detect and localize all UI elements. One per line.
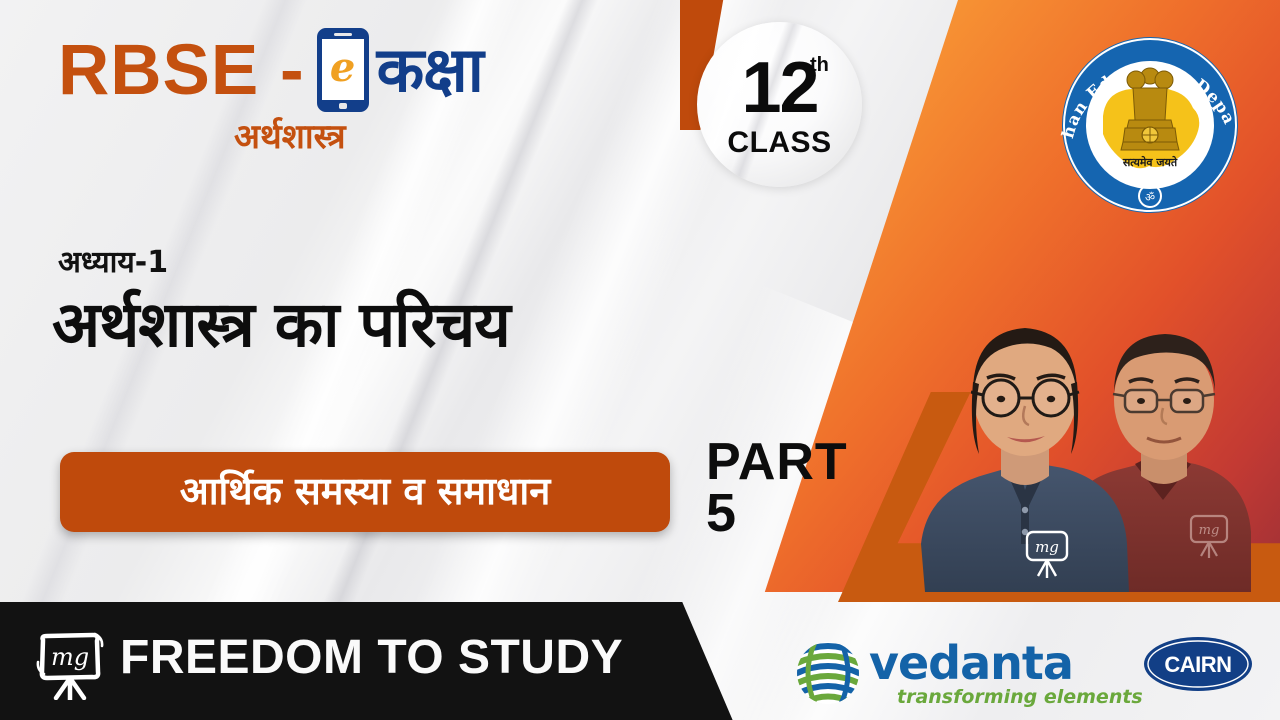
mg-easel-icon: mg <box>33 624 107 700</box>
seal-motto: सत्यमेव जयते <box>1122 155 1178 169</box>
chapter-title: अर्थशास्त्र का परिचय <box>52 290 510 361</box>
class-badge: 12 th CLASS <box>697 22 862 187</box>
footer-tagline: FREEDOM TO STUDY <box>120 634 623 682</box>
board-name: RBSE - <box>58 35 305 106</box>
class-label: CLASS <box>697 126 862 160</box>
cairn-logo: CAIRN <box>1143 636 1253 692</box>
chapter-number: अध्याय-1 <box>58 240 168 281</box>
topic-pill: आर्थिक समस्या व समाधान <box>60 452 670 532</box>
footer-bar: mg FREEDOM TO STUDY <box>0 602 740 720</box>
thumbnail-canvas: mg <box>0 0 1280 720</box>
kaksha-label: कक्षा <box>377 39 483 101</box>
seal-bottom-glyph: ॐ <box>1145 191 1155 204</box>
presenters-photo: mg <box>895 232 1255 592</box>
mg-logo-text: mg <box>51 643 89 671</box>
smartphone-screen: e <box>322 39 364 100</box>
part-number: 5 <box>706 488 848 540</box>
subject-label: अर्थशास्त्र <box>234 118 698 157</box>
e-letter: e <box>330 48 355 88</box>
topic-label: आर्थिक समस्या व समाधान <box>180 471 551 513</box>
part-word: PART <box>706 438 848 488</box>
brand-row: RBSE - e कक्षा <box>58 28 698 112</box>
vedanta-logo: vedanta transforming elements <box>795 640 1143 706</box>
brand-header: RBSE - e कक्षा अर्थशास्त्र <box>58 28 698 157</box>
part-indicator: PART 5 <box>706 438 848 540</box>
vedanta-globe-icon <box>795 640 861 706</box>
vedanta-name: vedanta <box>869 642 1143 686</box>
smartphone-speaker <box>334 33 352 36</box>
vedanta-wordmark: vedanta transforming elements <box>869 642 1143 708</box>
cairn-name: CAIRN <box>1164 652 1231 677</box>
class-number: 12 <box>697 52 862 124</box>
class-ordinal-suffix: th <box>810 54 829 77</box>
rajasthan-education-department-seal: Rajasthan Education Department सत्यमेव <box>1045 20 1255 230</box>
smartphone-home-button <box>339 103 347 109</box>
smartphone-icon: e <box>317 28 369 112</box>
vedanta-tagline: transforming elements <box>897 687 1143 708</box>
svg-text:mg: mg <box>1199 523 1220 538</box>
svg-text:mg: mg <box>1035 538 1059 556</box>
